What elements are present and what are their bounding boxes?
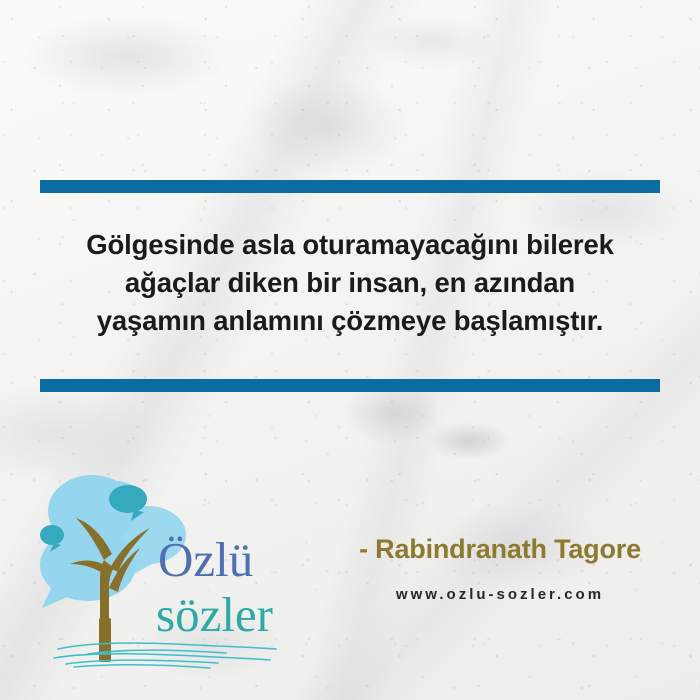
quote-card: Gölgesinde asla oturamayacağını bilerek …	[0, 0, 700, 700]
tree-logo-icon: Özlü sözler	[30, 468, 300, 673]
ground-lines	[54, 643, 276, 668]
logo-word-top: Özlü	[158, 532, 253, 587]
divider-rule-bottom	[40, 379, 660, 392]
divider-rule-top	[40, 180, 660, 193]
author-name: - Rabindranath Tagore	[330, 534, 670, 565]
ozlu-sozler-logo[interactable]: Özlü sözler	[30, 468, 300, 673]
quote-line-1: Gölgesinde asla oturamayacağını bilerek	[46, 226, 654, 264]
quote-text: Gölgesinde asla oturamayacağını bilerek …	[46, 226, 654, 340]
website-url[interactable]: www.ozlu-sozler.com	[330, 586, 670, 603]
quote-line-2: ağaçlar diken bir insan, en azından	[46, 264, 654, 302]
logo-word-bottom: sözler	[156, 587, 273, 642]
quote-line-3: yaşamın anlamını çözmeye başlamıştır.	[46, 302, 654, 340]
attribution-block: - Rabindranath Tagore www.ozlu-sozler.co…	[330, 534, 670, 603]
